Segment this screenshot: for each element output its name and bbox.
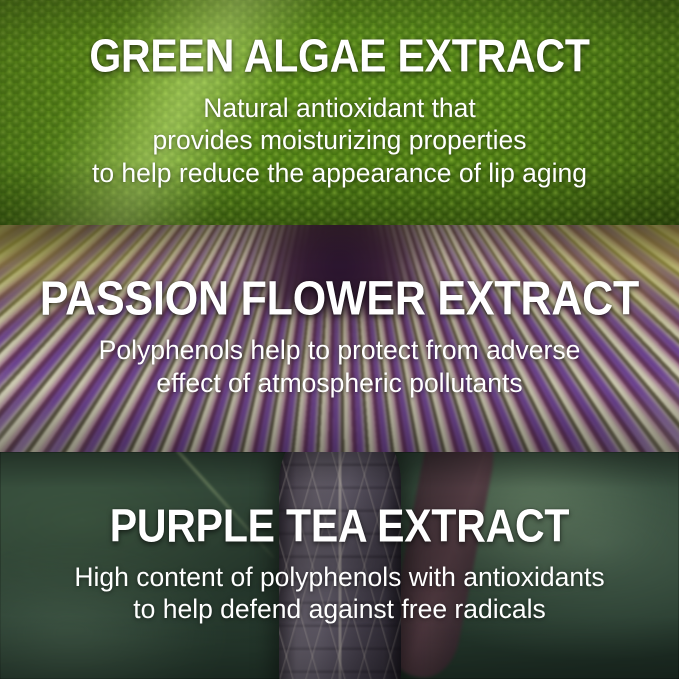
purple-tea-text-block: PURPLE TEA EXTRACT High content of polyp… <box>0 506 679 626</box>
panel-green-algae: GREEN ALGAE EXTRACT Natural antioxidant … <box>0 0 679 225</box>
green-algae-description-line-1: Natural antioxidant that <box>8 92 671 124</box>
purple-tea-title: PURPLE TEA EXTRACT <box>8 503 671 549</box>
green-algae-title: GREEN ALGAE EXTRACT <box>8 34 671 80</box>
passion-flower-description-line-1: Polyphenols help to protect from adverse <box>8 334 671 366</box>
passion-flower-description-line-2: effect of atmospheric pollutants <box>8 367 671 399</box>
panel-purple-tea: PURPLE TEA EXTRACT High content of polyp… <box>0 452 679 679</box>
green-algae-text-block: GREEN ALGAE EXTRACT Natural antioxidant … <box>0 36 679 189</box>
purple-tea-description-line-2: to help defend against free radicals <box>8 593 671 625</box>
green-algae-description-line-2: provides moisturizing properties <box>8 124 671 156</box>
panel-passion-flower: PASSION FLOWER EXTRACT Polyphenols help … <box>0 225 679 452</box>
purple-tea-description-line-1: High content of polyphenols with antioxi… <box>8 561 671 593</box>
passion-flower-title: PASSION FLOWER EXTRACT <box>8 276 671 324</box>
passion-flower-text-block: PASSION FLOWER EXTRACT Polyphenols help … <box>0 278 679 399</box>
ingredient-benefits-infographic: GREEN ALGAE EXTRACT Natural antioxidant … <box>0 0 679 679</box>
green-algae-description-line-3: to help reduce the appearance of lip agi… <box>8 157 671 189</box>
